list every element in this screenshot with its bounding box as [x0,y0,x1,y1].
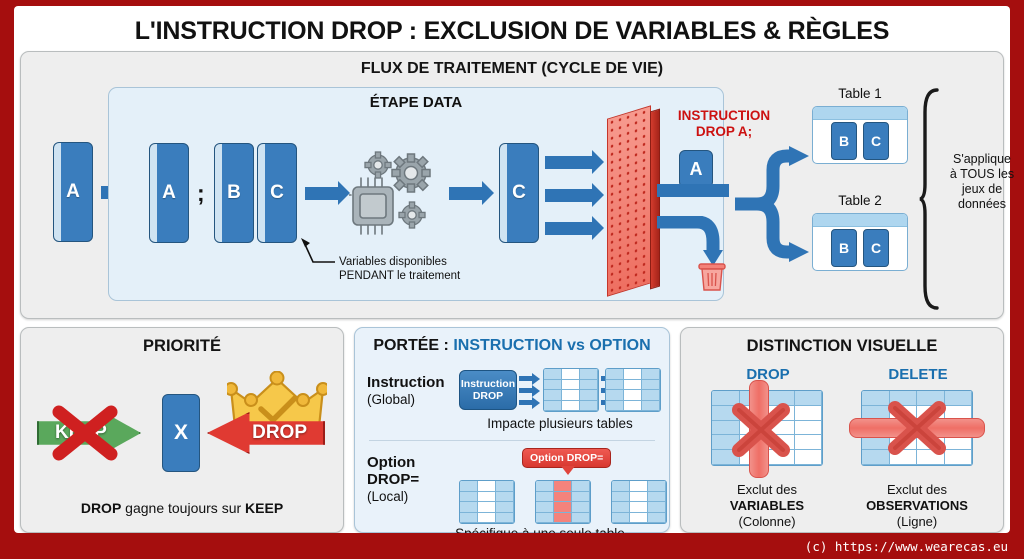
table-1-header [813,107,907,120]
table-2: B C [812,213,908,271]
step-column-a: A [149,143,189,243]
table-2-body: B C [813,227,907,270]
portee-table-5 [611,480,667,524]
distinction-delete-label: DELETE [853,366,983,383]
table-2-cell-b: B [831,229,857,267]
step-column-c: C [257,143,297,243]
priority-caption: DROP gagne toujours sur KEEP [21,500,343,516]
scope-brace [919,88,941,310]
red-x-icon-drop [729,402,793,458]
filter-arrow-top [545,156,593,169]
step-column-b: B [214,143,254,243]
portee-title: PORTÉE : INSTRUCTION vs OPTION [355,328,669,355]
distinction-delete-caption: Exclut des OBSERVATIONS (Ligne) [849,482,985,530]
portee-table-2 [605,368,661,412]
output-column-c: C [499,143,539,243]
table-1-cell-b: B [831,122,857,160]
portee-table-3 [459,480,515,524]
red-x-icon-delete [885,400,949,456]
filter-arrow-mid [545,189,593,202]
filter-arrow-bottom [545,222,593,235]
distinction-title: DISTINCTION VISUELLE [681,328,1003,356]
distinction-drop-label: DROP [703,366,833,383]
cpu-chip-icon [349,143,439,243]
gear-icon [392,154,430,192]
passthrough-line [657,184,729,197]
statement-separator: ; [197,180,205,207]
portee-arrow-1b [519,388,533,393]
table-2-header [813,214,907,227]
table-1-body: B C [813,120,907,163]
page-title: L'INSTRUCTION DROP : EXCLUSION DE VARIAB… [14,6,1010,50]
input-column-a: A [53,142,93,242]
dropped-variable-a: A [679,150,713,188]
scope-brace-text: S'applique à TOUS les jeux de données [939,152,1024,212]
filter-slab [607,105,651,296]
portee-arrow-1a [519,376,533,381]
priority-panel: PRIORITÉ KEEP X DROP DROP gagne toujours… [20,327,344,533]
priority-title: PRIORITÉ [21,328,343,356]
footer-watermark: (c) https://www.wearecas.eu [0,533,1024,559]
gear-icon-small [365,152,391,178]
note-leader-line [301,238,337,264]
table-1-cell-c: C [863,122,889,160]
variable-x-block: X [162,394,200,472]
portee-row2-label: Option DROP= (Local) [367,454,419,505]
portee-row1-label: Instruction (Global) [367,374,445,408]
infographic-page: L'INSTRUCTION DROP : EXCLUSION DE VARIAB… [14,6,1010,533]
table-2-caption: Table 2 [812,193,908,208]
portee-panel: PORTÉE : INSTRUCTION vs OPTION Instructi… [354,327,670,533]
red-x-icon [49,404,121,462]
distinction-drop-caption: Exclut des VARIABLES (Colonne) [699,482,835,530]
portee-table-1 [543,368,599,412]
etape-data-title: ÉTAPE DATA [109,88,723,111]
option-drop-chip: Option DROP= [522,448,611,468]
instruction-drop-chip: Instruction DROP [459,370,517,410]
split-arrows [733,124,813,284]
gear-icon-tiny [399,202,425,228]
flow-arrow-3 [449,187,483,200]
flow-arrow-2 [305,187,339,200]
table-1: B C [812,106,908,164]
main-panel-title: FLUX DE TRAITEMENT (CYCLE DE VIE) [21,52,1003,78]
table-2-cell-c: C [863,229,889,267]
distinction-panel: DISTINCTION VISUELLE DROP Exclut des VAR… [680,327,1004,533]
portee-table-4-targeted [535,480,591,524]
variables-note: Variables disponibles PENDANT le traitem… [339,255,460,283]
portee-row1-caption: Impacte plusieurs tables [455,416,665,431]
trash-icon [697,260,727,292]
footer-text: (c) https://www.wearecas.eu [805,539,1008,554]
portee-divider [369,440,655,441]
table-1-caption: Table 1 [812,86,908,101]
portee-arrow-1c [519,400,533,405]
main-flow-panel: FLUX DE TRAITEMENT (CYCLE DE VIE) A ÉTAP… [20,51,1004,319]
